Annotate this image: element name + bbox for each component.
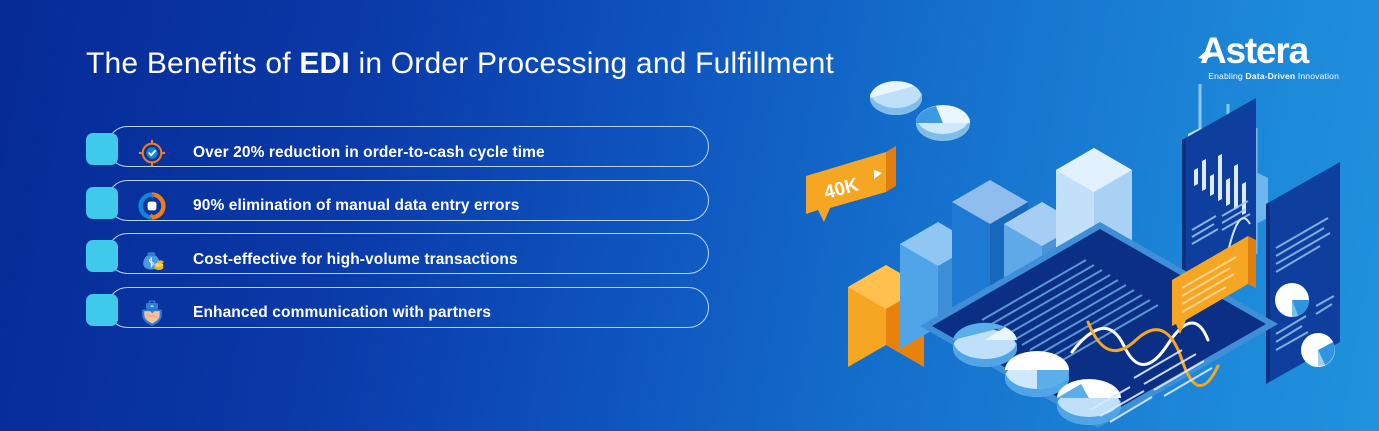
benefit-label: Over 20% reduction in order-to-cash cycl… (193, 144, 545, 162)
target-check-icon (138, 139, 166, 167)
isometric-data-analytics-illustration: 40K (800, 58, 1379, 431)
dashboard-panel-right (1266, 162, 1340, 384)
handshake-briefcase-icon (138, 299, 166, 327)
bullet-badge-4 (86, 294, 118, 326)
title-prefix: The Benefits of (86, 47, 299, 80)
bullet-badge-1 (86, 133, 118, 165)
page-title: The Benefits of EDI in Order Processing … (86, 47, 834, 81)
orange-value-callout: 40K (806, 146, 896, 222)
panel-pie-1 (1275, 283, 1309, 317)
title-highlight: EDI (299, 47, 350, 80)
edi-benefits-banner: The Benefits of EDI in Order Processing … (0, 0, 1379, 431)
money-bag-coins-icon (138, 246, 166, 274)
benefit-label: Cost-effective for high-volume transacti… (193, 251, 518, 269)
bullet-badge-2 (86, 187, 118, 219)
panel-pie-2 (1301, 333, 1335, 367)
benefit-label: 90% elimination of manual data entry err… (193, 197, 519, 215)
bullet-badge-3 (86, 240, 118, 272)
benefit-label: Enhanced communication with partners (193, 304, 491, 322)
title-suffix: in Order Processing and Fulfillment (350, 47, 834, 80)
refresh-circle-icon (138, 192, 166, 220)
floating-pie-discs (870, 81, 970, 141)
